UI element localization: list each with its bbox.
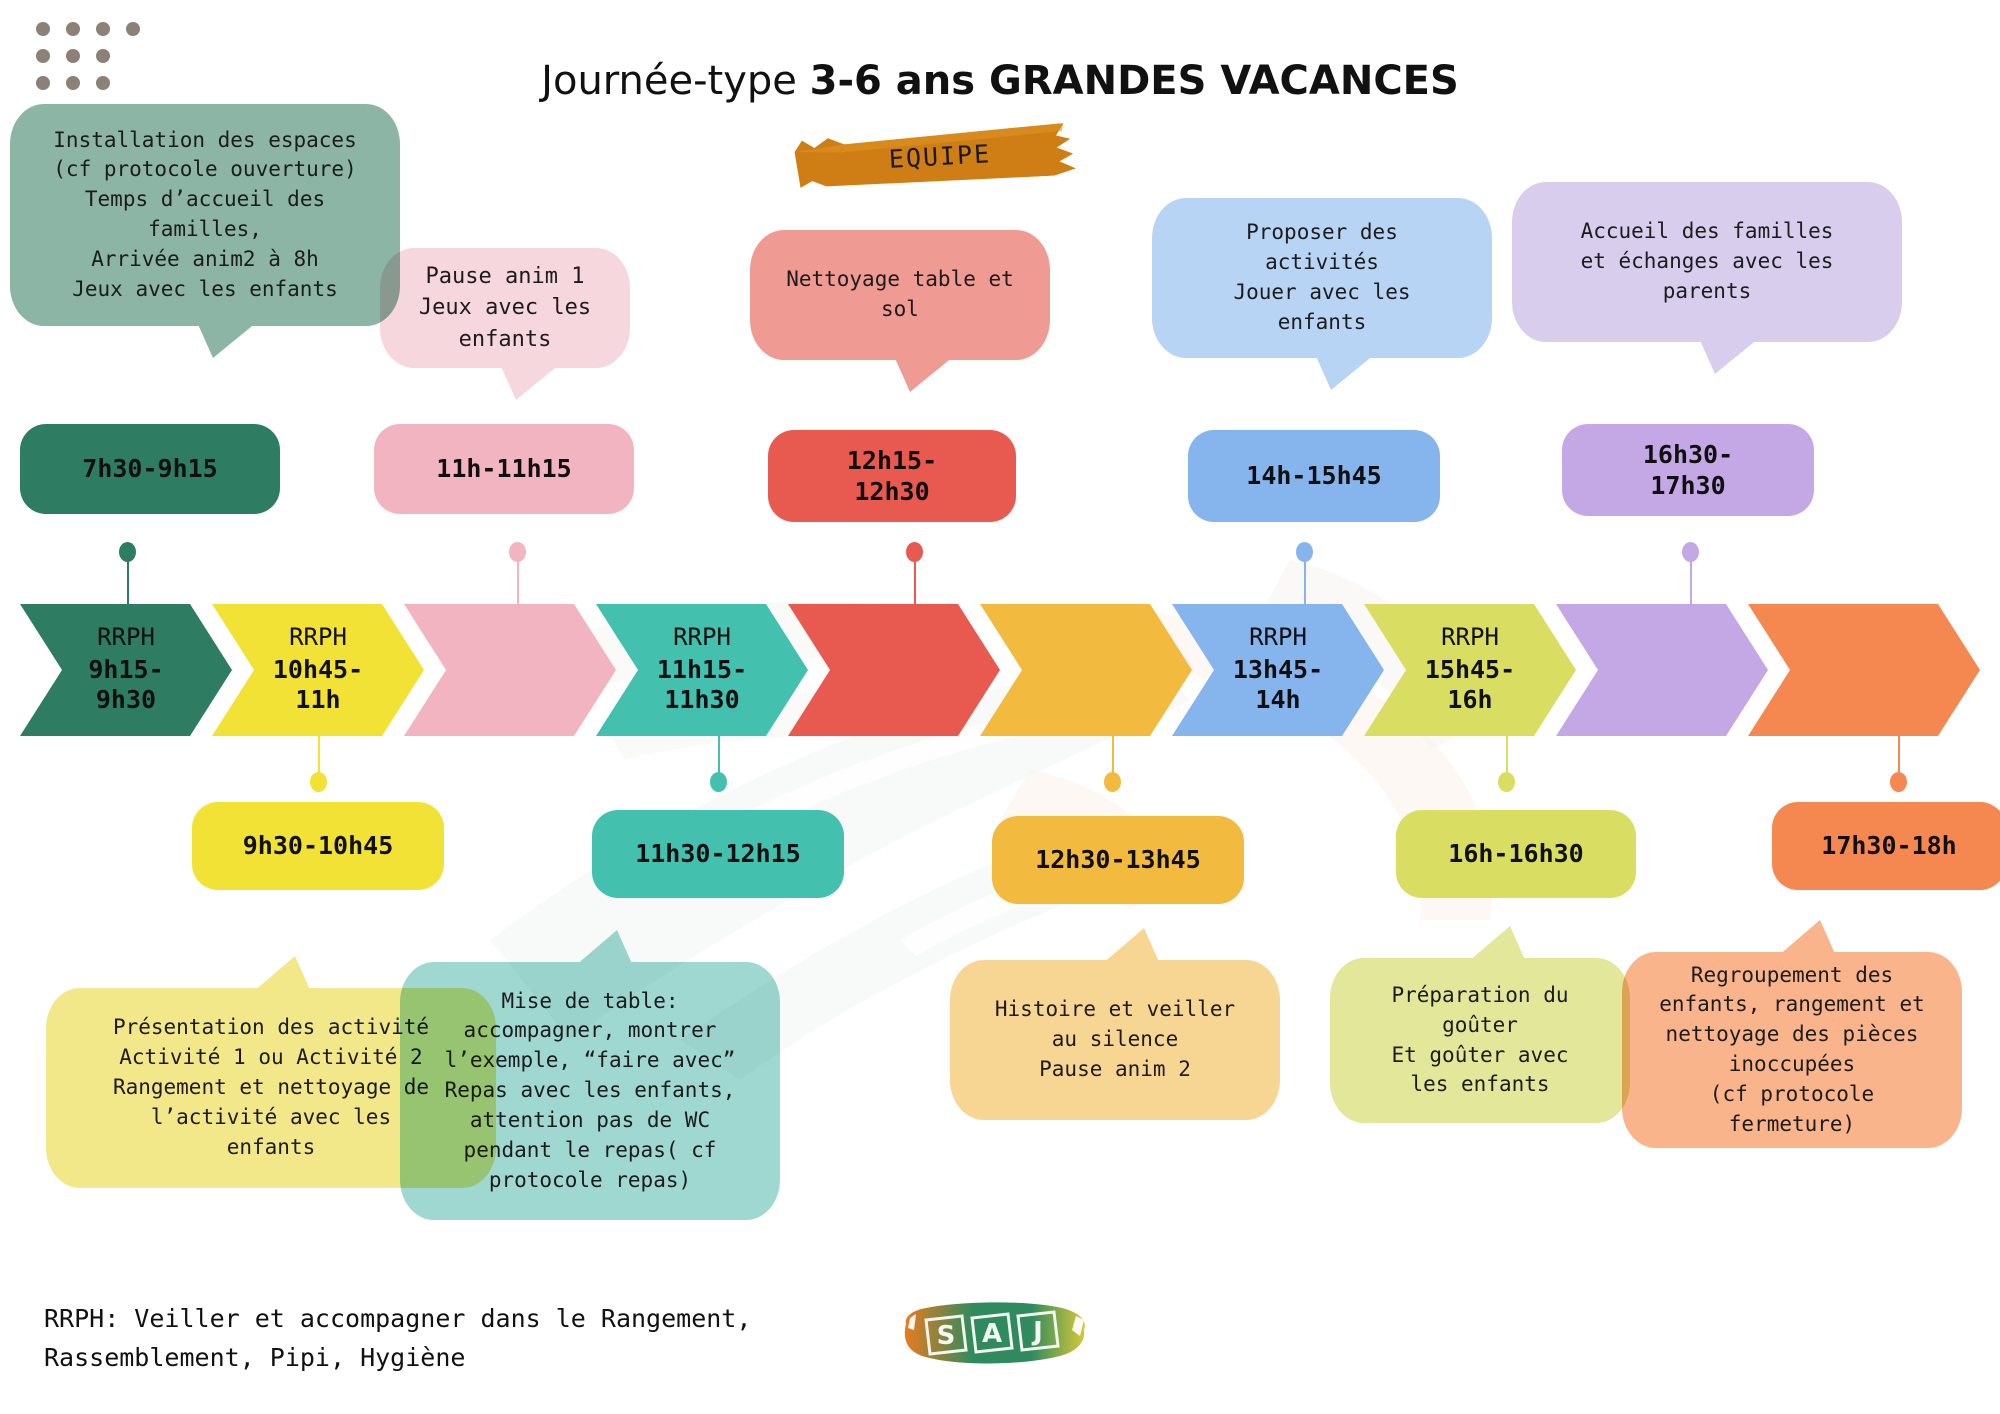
chevron-5 [980, 604, 1192, 736]
chevron-3-time: 11h15- 11h30 [657, 655, 747, 716]
stem-knob-bot-2 [1104, 772, 1121, 792]
stem-line-top-3 [1304, 556, 1306, 608]
svg-text:A: A [982, 1319, 1002, 1349]
top-capsule-0: 7h30-9h15 [20, 424, 280, 514]
top-bubble-1: Pause anim 1 Jeux avec les enfants [380, 248, 630, 368]
top-bubble-3: Proposer des activités Jouer avec les en… [1152, 198, 1492, 358]
chevron-3-rrph: RRPH [673, 624, 731, 650]
bottom-bubble-4: Regroupement des enfants, rangement et n… [1622, 952, 1962, 1148]
top-capsule-1: 11h-11h15 [374, 424, 634, 514]
equipe-ribbon: EQUIPE [794, 122, 1086, 190]
stem-line-top-1 [517, 556, 519, 608]
chevron-7-time: 15h45- 16h [1425, 655, 1515, 716]
chevron-0-rrph: RRPH [97, 624, 155, 650]
chevron-6-time: 13h45- 14h [1233, 655, 1323, 716]
top-bubble-4: Accueil des familles et échanges avec le… [1512, 182, 1902, 342]
bottom-bubble-1: Mise de table: accompagner, montrer l’ex… [400, 962, 780, 1220]
title-prefix: Journée-type [541, 58, 809, 104]
chevron-7: RRPH 15h45- 16h [1364, 604, 1576, 736]
top-capsule-4: 16h30- 17h30 [1562, 424, 1814, 516]
stem-knob-bot-4 [1890, 772, 1907, 792]
saj-logo: S A J [900, 1296, 1090, 1382]
bottom-capsule-2: 12h30-13h45 [992, 816, 1244, 904]
equipe-ribbon-label: EQUIPE [794, 122, 1086, 190]
top-capsule-2: 12h15- 12h30 [768, 430, 1016, 522]
chevron-0: RRPH 9h15- 9h30 [20, 604, 232, 736]
chevron-1-rrph: RRPH [289, 624, 347, 650]
bottom-capsule-0: 9h30-10h45 [192, 802, 444, 890]
top-capsule-3: 14h-15h45 [1188, 430, 1440, 522]
bottom-capsule-3: 16h-16h30 [1396, 810, 1636, 898]
chevron-3: RRPH 11h15- 11h30 [596, 604, 808, 736]
chevron-2 [404, 604, 616, 736]
title-bold: 3-6 ans GRANDES VACANCES [810, 58, 1459, 104]
svg-text:J: J [1031, 1317, 1043, 1347]
bottom-bubble-2: Histoire et veiller au silence Pause ani… [950, 960, 1280, 1120]
timeline-chevron-band: RRPH 9h15- 9h30 RRPH 10h45- 11h RRPH 11h… [0, 604, 2000, 736]
bottom-bubble-3: Préparation du goûter Et goûter avec les… [1330, 958, 1630, 1123]
rrph-legend: RRPH: Veiller et accompagner dans le Ran… [44, 1300, 944, 1378]
chevron-1-time: 10h45- 11h [273, 655, 363, 716]
stem-knob-bot-0 [310, 772, 327, 792]
bottom-capsule-1: 11h30-12h15 [592, 810, 844, 898]
svg-text:S: S [937, 1321, 956, 1351]
stem-knob-bot-3 [1498, 772, 1515, 792]
stem-line-top-4 [1690, 556, 1692, 608]
chevron-7-rrph: RRPH [1441, 624, 1499, 650]
chevron-1: RRPH 10h45- 11h [212, 604, 424, 736]
page-title: Journée-type 3-6 ans GRANDES VACANCES [500, 58, 1500, 104]
infographic-canvas: Journée-type 3-6 ans GRANDES VACANCES EQ… [0, 0, 2000, 1414]
stem-line-top-0 [127, 556, 129, 608]
chevron-9 [1748, 604, 1980, 736]
chevron-6: RRPH 13h45- 14h [1172, 604, 1384, 736]
bottom-capsule-4: 17h30-18h [1772, 802, 2000, 890]
dot-grid-decoration [28, 16, 148, 96]
chevron-4 [788, 604, 1000, 736]
chevron-8 [1556, 604, 1768, 736]
chevron-0-time: 9h15- 9h30 [88, 655, 163, 716]
chevron-6-rrph: RRPH [1249, 624, 1307, 650]
stem-knob-bot-1 [710, 772, 727, 792]
top-bubble-0: Installation des espaces (cf protocole o… [10, 104, 400, 326]
top-bubble-2: Nettoyage table et sol [750, 230, 1050, 360]
stem-line-top-2 [914, 556, 916, 608]
